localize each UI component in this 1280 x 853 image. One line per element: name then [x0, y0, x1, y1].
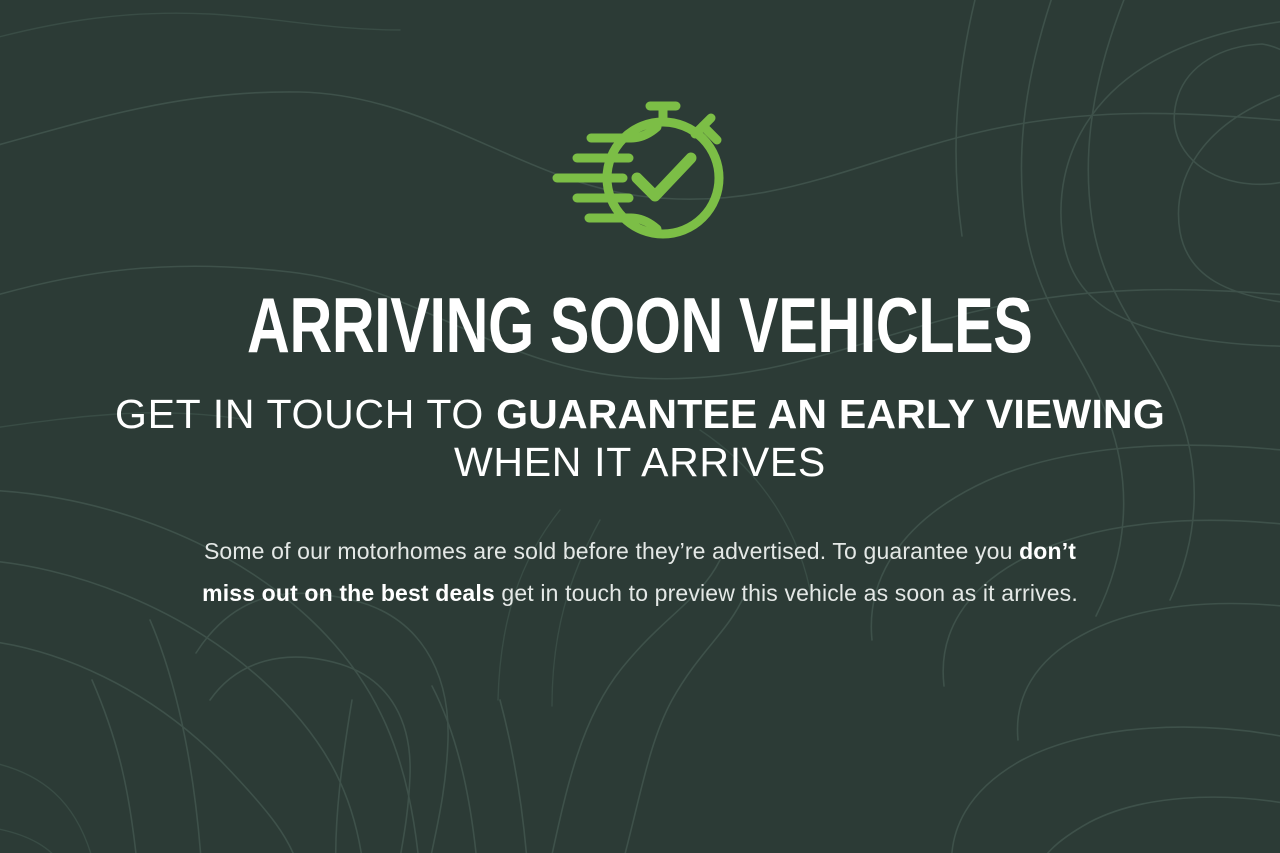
body-paragraph: Some of our motorhomes are sold before t… [185, 531, 1095, 615]
subheading-text-lead: GET IN TOUCH TO [115, 391, 496, 437]
subheading-text-emphasis: GUARANTEE AN EARLY VIEWING [496, 391, 1165, 437]
arriving-soon-vehicles-banner: ARRIVING SOON VEHICLES GET IN TOUCH TO G… [0, 0, 1280, 853]
subheading: GET IN TOUCH TO GUARANTEE AN EARLY VIEWI… [110, 391, 1170, 487]
subheading-text-tail: WHEN IT ARRIVES [454, 439, 826, 485]
body-text-lead: Some of our motorhomes are sold before t… [204, 538, 1019, 564]
stopwatch-speed-check-icon [545, 96, 735, 246]
stopwatch-icon-container [545, 96, 735, 246]
page-title: ARRIVING SOON VEHICLES [247, 292, 1032, 359]
body-text-tail: get in touch to preview this vehicle as … [495, 580, 1078, 606]
